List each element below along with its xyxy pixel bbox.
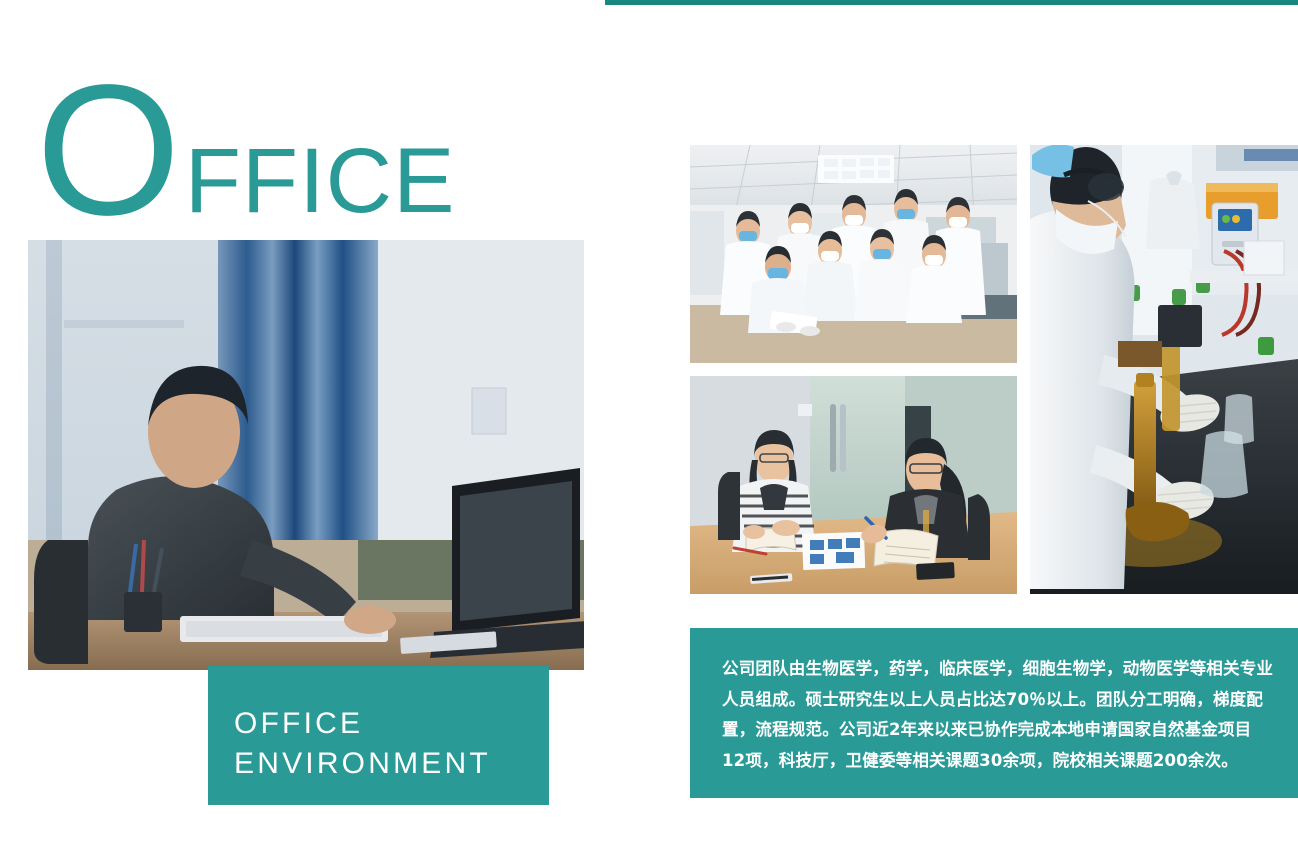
meeting-photo-graphic [690, 376, 1017, 594]
page-title: O FFICE [36, 58, 455, 244]
laboratory-photo [1030, 145, 1298, 594]
team-group-photo-graphic [690, 145, 1017, 363]
office-desk-photo [28, 240, 584, 670]
top-accent-rule [605, 0, 1298, 5]
team-description-text: 公司团队由生物医学，药学，临床医学，细胞生物学，动物医学等相关专业人员组成。硕士… [722, 654, 1274, 776]
office-environment-caption: OFFICE ENVIRONMENT [208, 666, 549, 805]
page-title-initial: O [36, 58, 179, 244]
page-title-rest: FFICE [185, 135, 456, 227]
team-description-box: 公司团队由生物医学，药学，临床医学，细胞生物学，动物医学等相关专业人员组成。硕士… [690, 628, 1298, 798]
caption-line-2: ENVIRONMENT [234, 744, 549, 784]
office-page: O FFICE [0, 0, 1298, 866]
team-group-photo [690, 145, 1017, 363]
meeting-photo [690, 376, 1017, 594]
caption-line-1: OFFICE [234, 704, 549, 744]
laboratory-photo-graphic [1030, 145, 1298, 594]
office-desk-photo-graphic [28, 240, 584, 670]
